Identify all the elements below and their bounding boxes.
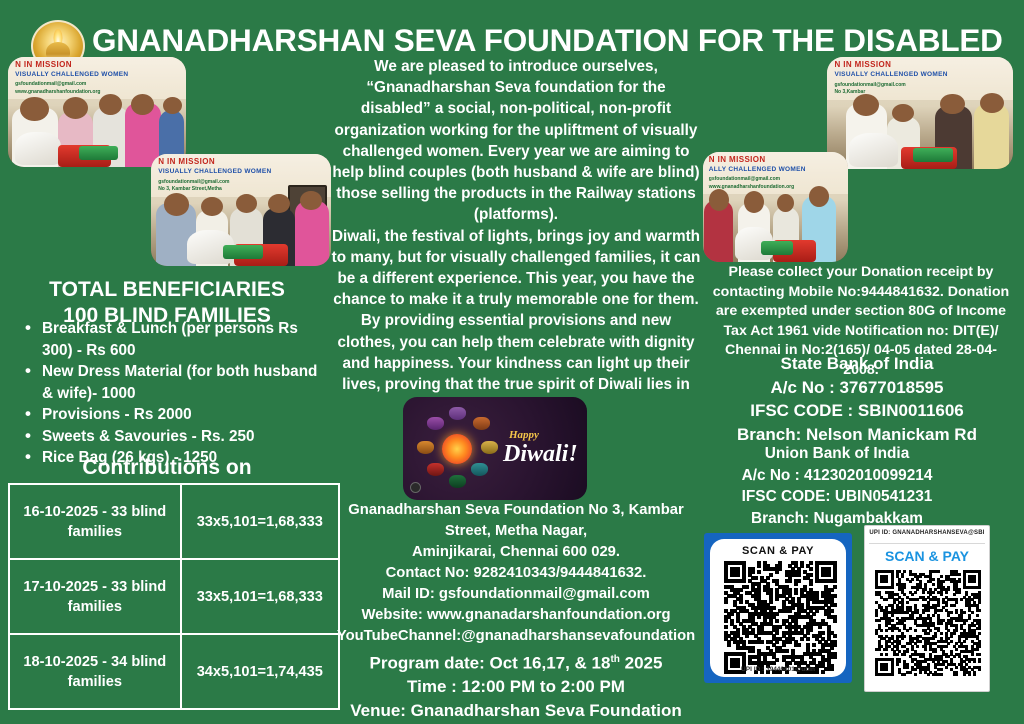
program-date-prefix: Program date: Oct 16,17, & 18 [370,654,611,673]
photo-banner: N IN MISSION ALLY CHALLENGED WOMEN gsfou… [703,152,848,194]
diwali-greeting-card: Happy Diwali! [403,397,587,500]
photo-banner-line-4: No 3, Kambar Street,Metha [158,186,222,192]
diwali-lamps-rangoli-icon [415,407,499,491]
photo-distribution-3: N IN MISSION VISUALLY CHALLENGED WOMEN g… [827,57,1013,169]
bank-details-primary: State Bank of India A/c No : 37677018595… [700,352,1014,446]
photo-banner-line-4: www.gnanadharshanfoundation.org [15,89,100,95]
photo-banner-line-1: N IN MISSION [709,155,766,164]
diwali-greeting-small: Happy [509,429,539,441]
photo-distribution-2: N IN MISSION VISUALLY CHALLENGED WOMEN g… [151,154,331,266]
photo-distribution-1: N IN MISSION VISUALLY CHALLENGED WOMEN g… [8,57,186,167]
beneficiaries-list: Breakfast & Lunch (per persons Rs 300) -… [22,318,328,469]
diya-lamp-icon [427,417,444,430]
bank-name: State Bank of India [700,352,1014,376]
photo-banner-line-2: VISUALLY CHALLENGED WOMEN [15,71,128,78]
photo-person-head [20,97,48,121]
photo-banner-line-1: N IN MISSION [15,60,72,69]
contact-website: Website: www.gnanadarshanfoundation.org [330,605,702,626]
qr-upi-id: UPI ID : 39446801@ubin [710,666,846,673]
bank-name: Union Bank of India [692,443,982,465]
divider [869,543,985,544]
qr-scan-pay-label: SCAN & PAY [710,545,846,557]
watermark-badge-icon [410,482,421,493]
qr-upi-id: UPI ID: GNANADHARSHANSEVA@SBI [865,530,989,536]
bank-ifsc-code: IFSC CODE: UBIN0541231 [692,486,982,508]
contact-address-line-1: Gnanadharshan Seva Foundation No 3, Kamb… [330,500,702,542]
list-item: Breakfast & Lunch (per persons Rs 300) -… [22,318,328,361]
contributions-heading: Contributions on [12,456,322,480]
bank-account-number: A/c No : 412302010099214 [692,465,982,487]
photo-banner-line-3: gsfoundationmail@gmail.com [158,179,229,185]
table-row: 17-10-2025 - 33 blind families 33x5,101=… [9,559,339,634]
contribution-amount: 34x5,101=1,74,435 [181,634,339,709]
contact-email: Mail ID: gsfoundationmail@gmail.com [330,584,702,605]
contribution-date: 17-10-2025 - 33 blind families [9,559,181,634]
photo-person [295,201,329,266]
qr-code-sbi[interactable]: UPI ID: GNANADHARSHANSEVA@SBI SCAN & PAY [864,525,990,692]
diwali-greeting-large: Diwali! [503,441,578,468]
photo-banner-line-3: gsfoundationmail@gmail.com [709,176,780,182]
bank-ifsc-code: IFSC CODE : SBIN0011606 [700,399,1014,423]
qr-scan-pay-label: SCAN & PAY [865,548,989,564]
introduction-text: We are pleased to introduce ourselves, “… [330,56,702,416]
qr-card-inner: SCAN & PAY UPI ID : 39446801@ubin [710,539,846,677]
diya-lamp-icon [417,441,434,454]
diya-lamp-icon [473,417,490,430]
photo-banner-line-3: gsfoundationmail@gmail.com [15,81,86,87]
photo-person-head [744,191,764,213]
photo-person-head [809,186,829,207]
qr-code-union-bank[interactable]: SCAN & PAY UPI ID : 39446801@ubin [704,533,852,683]
program-date-suffix: 2025 [620,654,663,673]
photo-banner-line-3: gsfoundationmail@gmail.com [834,82,905,88]
photo-banner: N IN MISSION VISUALLY CHALLENGED WOMEN g… [8,57,186,99]
photo-person-head [99,94,122,115]
photo-person-head [268,194,290,213]
poster-header: GNANADHARSHAN SEVA FOUNDATION FOR THE DI… [0,8,1024,60]
photo-banner-line-2: VISUALLY CHALLENGED WOMEN [158,168,271,175]
photo-banner-line-2: VISUALLY CHALLENGED WOMEN [834,71,947,78]
qr-code-image [875,570,981,676]
photo-relief-dress [223,245,263,260]
contact-youtube: YouTubeChannel:@gnanadharshansevafoundat… [330,626,702,647]
photo-person-head [980,93,1004,113]
photo-person-head [164,193,189,215]
photo-relief-dress [913,148,954,163]
photo-relief-dress [79,146,118,160]
contribution-amount: 33x5,101=1,68,333 [181,559,339,634]
bank-details-secondary: Union Bank of India A/c No : 41230201009… [692,443,982,529]
page-title: GNANADHARSHAN SEVA FOUNDATION FOR THE DI… [92,22,1002,59]
photo-person-head [63,97,88,119]
photo-banner-line-1: N IN MISSION [158,157,215,166]
photo-person-head [300,191,322,210]
photo-relief-sack [849,133,897,167]
list-item: Provisions - Rs 2000 [22,404,328,426]
program-date-ordinal: th [610,654,619,665]
intro-paragraph-1: We are pleased to introduce ourselves, “… [330,56,702,226]
program-details: Program date: Oct 16,17, & 18th 2025 Tim… [330,648,702,722]
photo-person-head [940,94,964,114]
intro-paragraph-2: Diwali, the festival of lights, brings j… [330,226,702,417]
program-venue: Venue: Gnanadharshan Seva Foundation [330,699,702,723]
diya-lamp-icon [449,407,466,420]
program-date: Program date: Oct 16,17, & 18th 2025 [330,648,702,675]
contribution-date: 16-10-2025 - 33 blind families [9,484,181,559]
contact-phone: Contact No: 9282410343/9444841632. [330,563,702,584]
list-item: Sweets & Savouries - Rs. 250 [22,426,328,448]
contribution-date: 18-10-2025 - 34 blind families [9,634,181,709]
table-row: 18-10-2025 - 34 blind families 34x5,101=… [9,634,339,709]
qr-code-image [724,561,836,673]
list-item: New Dress Material (for both husband & w… [22,361,328,404]
contributions-table: 16-10-2025 - 33 blind families 33x5,101=… [8,483,340,710]
bank-account-number: A/c No : 37677018595 [700,376,1014,400]
photo-person-head [201,197,223,216]
poster-root: GNANADHARSHAN SEVA FOUNDATION FOR THE DI… [0,0,1024,724]
photo-banner-line-1: N IN MISSION [834,60,891,69]
diya-lamp-icon [427,463,444,476]
contact-details: Gnanadharshan Seva Foundation No 3, Kamb… [330,500,702,647]
beneficiaries-heading-line-1: TOTAL BENEFICIARIES [12,277,322,303]
diya-lamp-icon [471,463,488,476]
diya-lamp-icon [481,441,498,454]
photo-relief-sack [15,132,61,165]
diya-lamp-icon [449,475,466,488]
table-row: 16-10-2025 - 33 blind families 33x5,101=… [9,484,339,559]
program-time: Time : 12:00 PM to 2:00 PM [330,675,702,699]
photo-banner-line-2: ALLY CHALLENGED WOMEN [709,166,806,173]
photo-relief-dress [761,241,793,255]
rangoli-flower-icon [442,434,472,464]
photo-distribution-4: N IN MISSION ALLY CHALLENGED WOMEN gsfou… [703,152,848,262]
contact-address-line-2: Aminjikarai, Chennai 600 029. [330,542,702,563]
photo-person [974,104,1009,169]
photo-banner: N IN MISSION VISUALLY CHALLENGED WOMEN g… [827,57,1013,100]
contribution-amount: 33x5,101=1,68,333 [181,484,339,559]
